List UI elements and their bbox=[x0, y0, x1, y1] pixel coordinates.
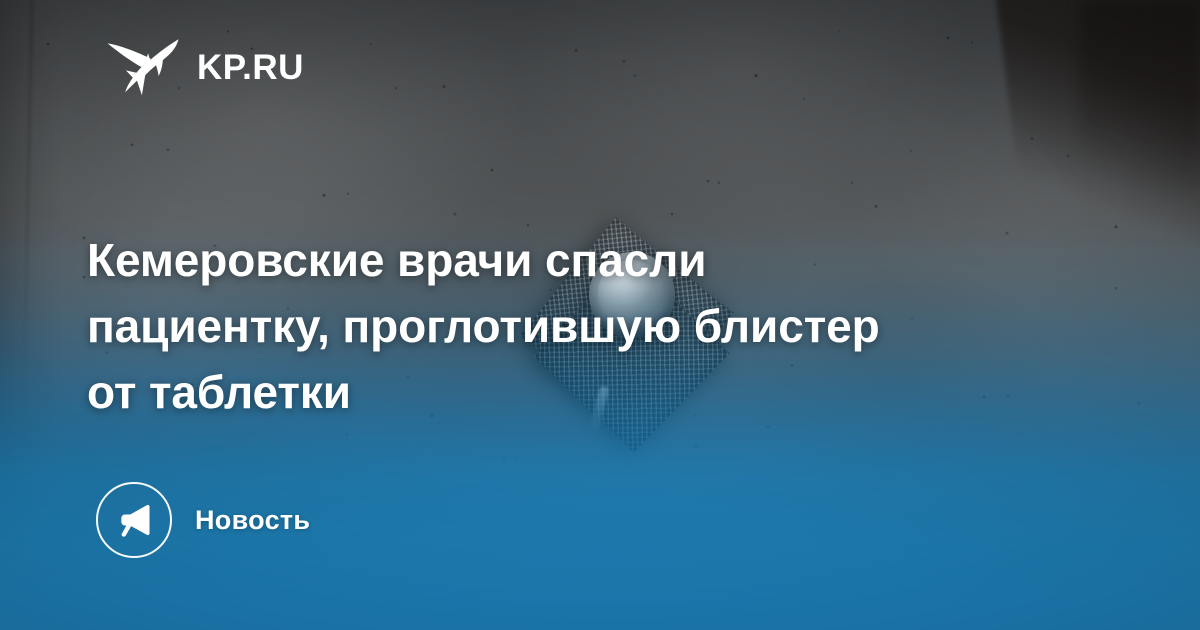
swallow-bird-icon bbox=[104, 33, 180, 101]
news-share-card: KP.RU Кемеровские врачи спасли пациентку… bbox=[0, 0, 1200, 630]
status-badge[interactable]: Новость bbox=[96, 482, 310, 558]
status-badge-label: Новость bbox=[195, 505, 310, 536]
megaphone-badge bbox=[96, 482, 172, 558]
megaphone-icon bbox=[115, 501, 153, 539]
brand-name: KP.RU bbox=[197, 50, 304, 85]
brand-lockup[interactable]: KP.RU bbox=[104, 33, 304, 101]
page-title: Кемеровские врачи спасли пациентку, прог… bbox=[87, 227, 917, 425]
